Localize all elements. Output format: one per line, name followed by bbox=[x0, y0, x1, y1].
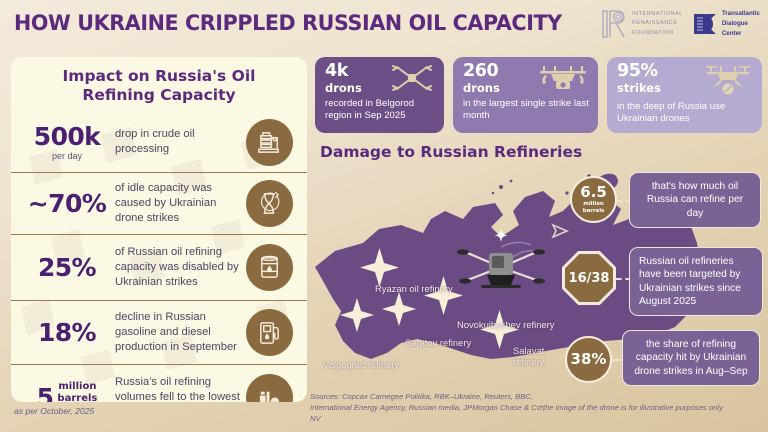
fuel-pump-icon bbox=[246, 309, 293, 356]
row-description: Russia's oil refining volumes fell to th… bbox=[111, 375, 246, 402]
header: HOW UKRAINE CRIPPLED RUSSIAN OIL CAPACIT… bbox=[0, 0, 768, 52]
disclaimer-text: *the image of the drone is for illustrat… bbox=[540, 403, 766, 412]
row-value: 5 million barrels per day bbox=[23, 381, 111, 402]
stat-card-description: in the largest single strike last month bbox=[463, 98, 589, 123]
page-title: HOW UKRAINE CRIPPLED RUSSIAN OIL CAPACIT… bbox=[14, 11, 562, 36]
badge-refining-capacity: 6.5 million barrels bbox=[570, 176, 617, 223]
sources-text: Sources: Copcax Carnegee Politika, RBK–U… bbox=[310, 392, 555, 424]
impact-row: 25% of Russian oil refining capacity was… bbox=[11, 234, 307, 300]
camera-drone-icon bbox=[537, 63, 589, 93]
refinery-label-saratov: Saratov refinery bbox=[405, 337, 471, 348]
impact-row: 18% decline in Russian gasoline and dies… bbox=[11, 300, 307, 364]
refinery-label-salavat: Salavat refinery bbox=[513, 345, 561, 368]
row-value: 500k per day bbox=[23, 124, 111, 161]
row-description: decline in Russian gasoline and diesel p… bbox=[111, 310, 246, 354]
stat-card-group: 4k drons recorded in Belgorod region in … bbox=[315, 57, 762, 133]
row-description: of idle capacity was caused by Ukrainian… bbox=[111, 181, 246, 225]
badge-refineries-targeted: 16/38 bbox=[565, 254, 613, 302]
refinery-label-ryazan: Ryazan oil refinery bbox=[375, 283, 453, 294]
logo-international-renaissance-foundation: INTERNATIONAL RENAISSANCE FOUNDATION bbox=[602, 9, 683, 39]
panel-footnote: as per October, 2025 bbox=[14, 406, 94, 416]
oil-barrel-icon bbox=[246, 244, 293, 291]
payload-drone-icon bbox=[703, 63, 753, 97]
tdc-wordmark: Transatlantic Dialogue Center bbox=[722, 9, 760, 40]
stat-card-largest-strike: 260 drons in the largest single strike l… bbox=[453, 57, 598, 133]
quadcopter-drone-icon bbox=[389, 63, 435, 93]
row-value: 18% bbox=[23, 320, 111, 345]
row-value: ~70% bbox=[23, 191, 111, 216]
refinery-label-novokuibyshev: Novokuibyshev refinery bbox=[457, 319, 554, 330]
row-value: 25% bbox=[23, 255, 111, 280]
refinery-label-volgograd: Volgograd refinery bbox=[323, 359, 399, 370]
impact-rows: 500k per day drop in crude oil processin… bbox=[11, 112, 307, 402]
irf-mark-icon bbox=[602, 9, 627, 39]
refinery-tanks-icon bbox=[246, 374, 293, 402]
panel-title: Impact on Russia's Oil Refining Capacity bbox=[11, 67, 307, 105]
impact-row: ~70% of idle capacity was caused by Ukra… bbox=[11, 172, 307, 234]
hourglass-icon bbox=[246, 180, 293, 227]
impact-row: 5 million barrels per day Russia's oil r… bbox=[11, 364, 307, 402]
stat-card-description: recorded in Belgorod region in Sep 2025 bbox=[325, 98, 435, 123]
callout-capacity-hit: the share of refining capacity hit by Uk… bbox=[622, 330, 760, 386]
stat-card-drones-belgorod: 4k drons recorded in Belgorod region in … bbox=[315, 57, 444, 133]
badge-capacity-hit: 38% bbox=[565, 336, 612, 383]
oil-processing-icon bbox=[246, 119, 293, 166]
row-description: of Russian oil refining capacity was dis… bbox=[111, 245, 246, 289]
tdc-mark-icon bbox=[692, 11, 718, 37]
impact-row: 500k per day drop in crude oil processin… bbox=[11, 112, 307, 172]
stat-card-description: in the deep of Russia use Ukrainian dron… bbox=[617, 101, 753, 126]
irf-wordmark: INTERNATIONAL RENAISSANCE FOUNDATION bbox=[632, 10, 683, 39]
stat-card-deep-strikes: 95% strikes in the deep of Russia use Uk… bbox=[607, 57, 762, 133]
row-description: drop in crude oil processing bbox=[111, 127, 246, 157]
row-unit: million barrels per day bbox=[57, 381, 97, 402]
logo-transatlantic-dialogue-center: Transatlantic Dialogue Center bbox=[692, 9, 760, 40]
callout-refineries-targeted: Russian oil refineries have been targete… bbox=[629, 247, 763, 316]
impact-panel: Impact on Russia's Oil Refining Capacity… bbox=[11, 57, 307, 402]
map-section-title: Damage to Russian Refineries bbox=[320, 143, 582, 161]
callout-refining-capacity: that's how much oil Russia can refine pe… bbox=[629, 172, 761, 228]
logo-group: INTERNATIONAL RENAISSANCE FOUNDATION Tra… bbox=[602, 9, 760, 40]
